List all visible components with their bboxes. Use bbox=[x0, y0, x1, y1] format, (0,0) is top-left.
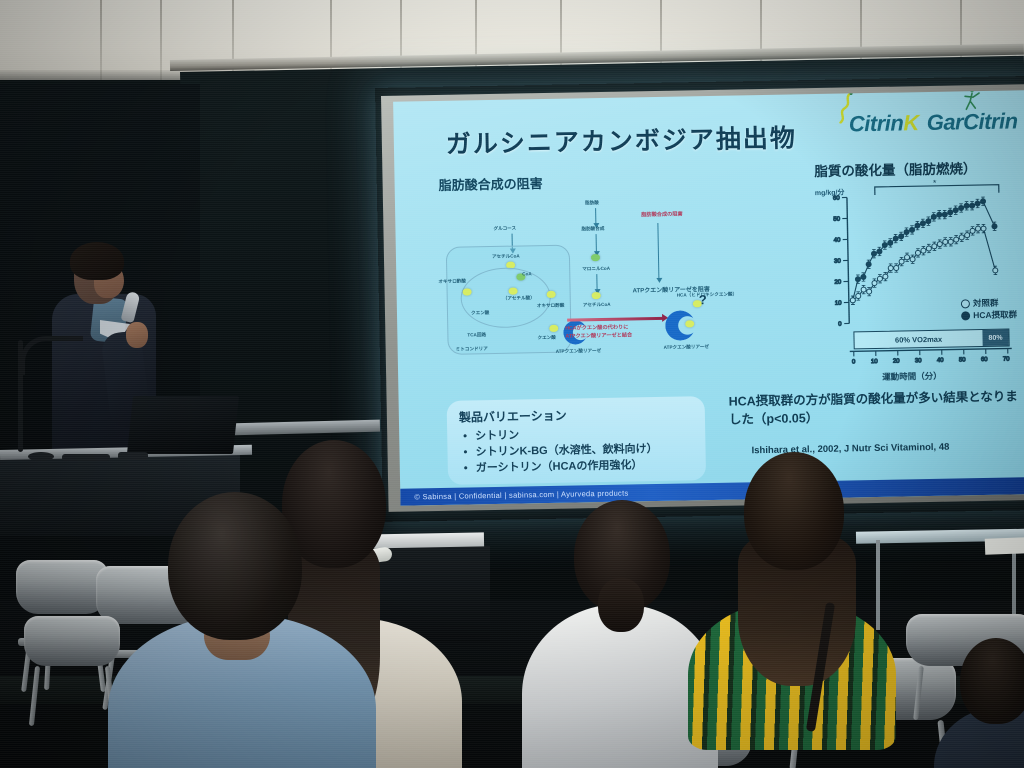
paper-sheet bbox=[985, 537, 1024, 555]
label-malonyl-coa: マロニルCoA bbox=[582, 266, 610, 273]
label-fatty-acid: 脂肪酸 bbox=[585, 200, 599, 206]
legend-control: 対照群 bbox=[961, 296, 1017, 309]
audience-head bbox=[960, 638, 1024, 724]
brand-logos: CitrinK GarCitrin bbox=[849, 108, 1018, 137]
label-fatty-acid-synthesis: 脂肪酸合成 bbox=[581, 226, 604, 232]
desk-object-small bbox=[118, 452, 148, 460]
audience-head bbox=[168, 492, 302, 640]
label-oxaloacetate-1: オキサロ酢酸 bbox=[438, 278, 466, 285]
left-section-heading: 脂肪酸合成の阻害 bbox=[438, 173, 542, 194]
open-circle-icon bbox=[961, 299, 970, 308]
svg-text:50: 50 bbox=[833, 217, 840, 223]
garcitrin-logo-pre: Gar bbox=[926, 109, 963, 135]
label-citrate-2: クエン酸 bbox=[537, 335, 555, 341]
product-variations-heading: 製品バリエーション bbox=[459, 404, 693, 425]
chart-x-axis-label: 運動時間（分） bbox=[882, 370, 942, 383]
svg-text:10: 10 bbox=[871, 359, 878, 365]
garcitrin-runner-icon bbox=[960, 90, 982, 113]
label-acetyl-coa-2: アセチルCoA bbox=[583, 302, 611, 309]
svg-text:70: 70 bbox=[1003, 357, 1010, 363]
svg-text:40: 40 bbox=[937, 358, 944, 364]
presentation-slide: ガルシニアカンボジア抽出物 CitrinK bbox=[393, 90, 1024, 506]
desk-object-round bbox=[28, 452, 54, 461]
label-oxaloacetate-2: オキサロ酢酸 bbox=[537, 303, 565, 310]
svg-text:*: * bbox=[933, 178, 937, 188]
label-atp-citrate-lyase-1: ATPクエン酸リアーゼ bbox=[556, 348, 601, 355]
question-mark: ? bbox=[699, 292, 707, 307]
garcitrin-logo: GarCitrin bbox=[926, 108, 1017, 136]
audience-far-right bbox=[960, 638, 1024, 768]
projection-screen: ガルシニアカンボジア抽出物 CitrinK bbox=[393, 90, 1024, 506]
svg-text:30: 30 bbox=[915, 358, 922, 364]
callout-red-line-1: HCAがクエン酸の代わりに bbox=[565, 324, 628, 332]
svg-text:10: 10 bbox=[835, 301, 842, 307]
exercise-protocol-bar: 60% VO2max 80% bbox=[853, 329, 1009, 350]
audience-head bbox=[744, 452, 844, 570]
label-mitochondria: ミトコンドリア bbox=[456, 346, 488, 353]
seminar-room-photo: ガルシニアカンボジア抽出物 CitrinK bbox=[0, 0, 1024, 768]
citrin-swoosh-icon bbox=[836, 91, 859, 123]
label-hca: HCA（ヒドロキシクエン酸） bbox=[677, 292, 738, 299]
svg-text:30: 30 bbox=[834, 259, 841, 265]
desk-object-bar bbox=[62, 454, 110, 461]
callout-inhibit-fa-synthesis: 脂肪酸合成の阻害 bbox=[641, 210, 683, 218]
label-citrate-1: クエン酸 bbox=[471, 310, 489, 316]
svg-text:0: 0 bbox=[838, 322, 842, 328]
svg-text:40: 40 bbox=[834, 238, 841, 244]
metabolic-pathway-diagram: グルコース アセチルCoA オキサロ酢酸 （アセチル酸） クエン酸 TCA回路 … bbox=[435, 194, 798, 391]
citrink-logo-accent: K bbox=[903, 110, 919, 135]
microphone-stand-pole bbox=[18, 340, 23, 452]
presenter-hair bbox=[70, 242, 124, 280]
label-tca-cycle: TCA回路 bbox=[467, 332, 486, 338]
citrink-logo: CitrinK bbox=[849, 110, 919, 137]
slide-title: ガルシニアカンボジア抽出物 bbox=[446, 118, 798, 160]
callout-red-line-2: ATPクエン酸リアーゼと結合 bbox=[565, 331, 632, 339]
label-acetyl-coa-1: アセチルCoA bbox=[492, 253, 520, 260]
legend-label-control: 対照群 bbox=[973, 297, 999, 310]
label-acetyl: （アセチル酸） bbox=[503, 295, 535, 302]
legend-hca: HCA摂取群 bbox=[961, 309, 1017, 322]
microphone-stand-arm bbox=[20, 336, 83, 375]
protocol-end-label: 80% bbox=[982, 330, 1008, 346]
chart-legend: 対照群 HCA摂取群 bbox=[961, 296, 1017, 322]
svg-text:0: 0 bbox=[852, 359, 856, 365]
fat-oxidation-chart: 脂質の酸化量（脂肪燃焼） mg/kg/分 60 50 40 30 20 bbox=[809, 178, 1024, 382]
presenter-hand bbox=[126, 322, 148, 348]
audience-striped-knit bbox=[720, 452, 900, 768]
conclusion-text: HCA摂取群の方が脂質の酸化量が多い結果となりました（p<0.05） bbox=[729, 388, 1024, 428]
chart-title: 脂質の酸化量（脂肪燃焼） bbox=[814, 157, 976, 180]
folding-chair bbox=[24, 616, 120, 736]
label-glucose: グルコース bbox=[493, 226, 516, 232]
svg-text:60: 60 bbox=[833, 196, 840, 202]
svg-text:20: 20 bbox=[834, 280, 841, 286]
product-variations-box: 製品バリエーション シトリン シトリンK-BG（水溶性、飲料向け） ガーシトリン… bbox=[447, 396, 706, 485]
presenter-laptop bbox=[127, 396, 239, 454]
product-item: ガーシトリン（HCAの作用強化） bbox=[476, 457, 694, 477]
svg-text:20: 20 bbox=[893, 359, 900, 365]
protocol-main-label: 60% VO2max bbox=[854, 334, 982, 345]
product-variations-list: シトリン シトリンK-BG（水溶性、飲料向け） ガーシトリン（HCAの作用強化） bbox=[459, 425, 694, 477]
svg-text:50: 50 bbox=[959, 357, 966, 363]
label-coa: CoA bbox=[522, 271, 532, 276]
filled-circle-icon bbox=[961, 311, 970, 320]
svg-text:60: 60 bbox=[981, 357, 988, 363]
projection-screen-frame: ガルシニアカンボジア抽出物 CitrinK bbox=[381, 84, 1024, 512]
audience-ponytail bbox=[598, 578, 644, 632]
audience-front-left bbox=[134, 492, 374, 768]
legend-label-hca: HCA摂取群 bbox=[973, 309, 1017, 322]
label-atp-citrate-lyase-2: ATPクエン酸リアーゼ bbox=[664, 344, 709, 351]
